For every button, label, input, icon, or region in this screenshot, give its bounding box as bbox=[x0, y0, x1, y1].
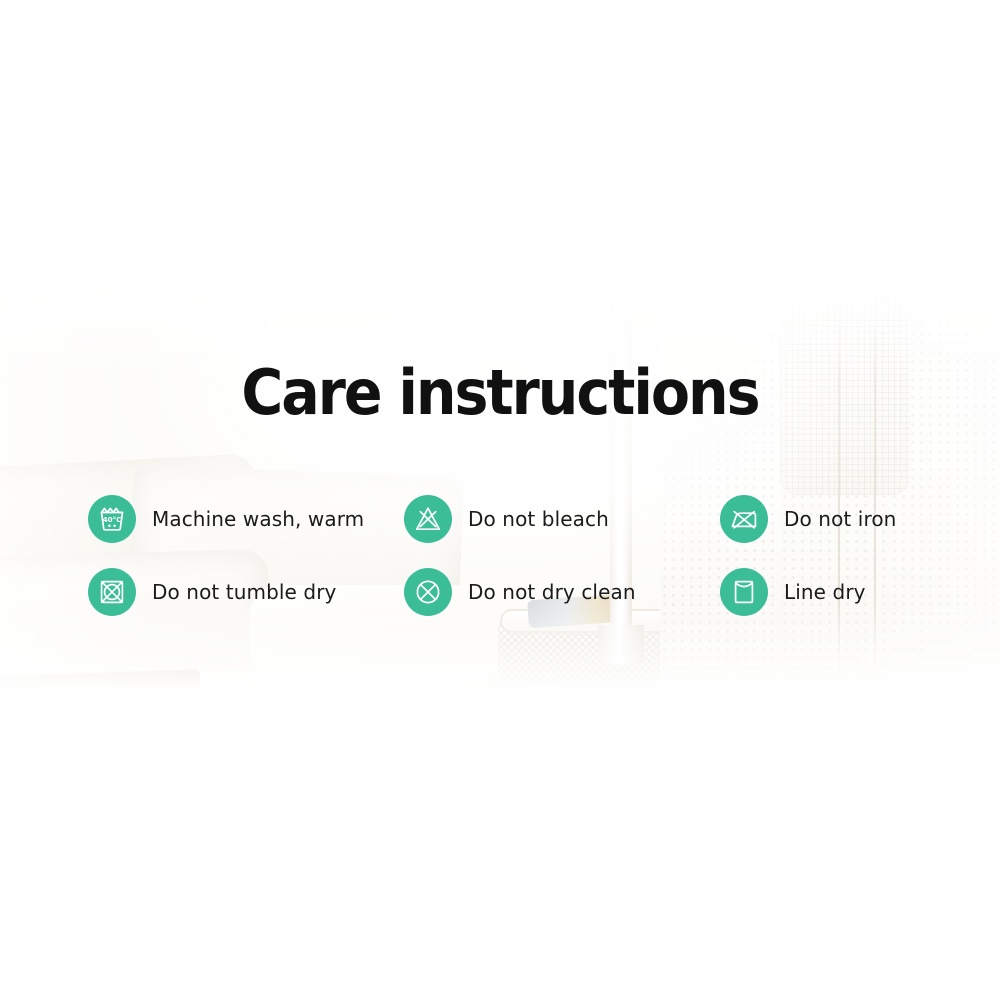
do-not-dry-clean-icon bbox=[404, 568, 452, 616]
care-item-do-not-dry-clean: Do not dry clean bbox=[404, 555, 720, 628]
care-instructions-list: 40°C Machine wash, warm Do not bleach bbox=[88, 482, 928, 628]
line-dry-icon bbox=[720, 568, 768, 616]
care-item-label: Do not bleach bbox=[468, 507, 609, 531]
care-item-machine-wash: 40°C Machine wash, warm bbox=[88, 482, 404, 555]
care-item-label: Machine wash, warm bbox=[152, 507, 364, 531]
do-not-iron-icon bbox=[720, 495, 768, 543]
do-not-bleach-icon bbox=[404, 495, 452, 543]
care-item-label: Line dry bbox=[784, 580, 866, 604]
page-title: Care instructions bbox=[40, 362, 960, 424]
care-item-label: Do not tumble dry bbox=[152, 580, 336, 604]
svg-text:40°C: 40°C bbox=[103, 515, 122, 524]
do-not-tumble-dry-icon bbox=[88, 568, 136, 616]
care-item-label: Do not iron bbox=[784, 507, 896, 531]
care-item-do-not-bleach: Do not bleach bbox=[404, 482, 720, 555]
care-item-do-not-tumble-dry: Do not tumble dry bbox=[88, 555, 404, 628]
care-instructions-banner: Care instructions 40°C Machine wash, war… bbox=[0, 0, 1000, 1000]
care-item-line-dry: Line dry bbox=[720, 555, 928, 628]
machine-wash-40c-icon: 40°C bbox=[88, 495, 136, 543]
care-item-do-not-iron: Do not iron bbox=[720, 482, 928, 555]
care-item-label: Do not dry clean bbox=[468, 580, 636, 604]
